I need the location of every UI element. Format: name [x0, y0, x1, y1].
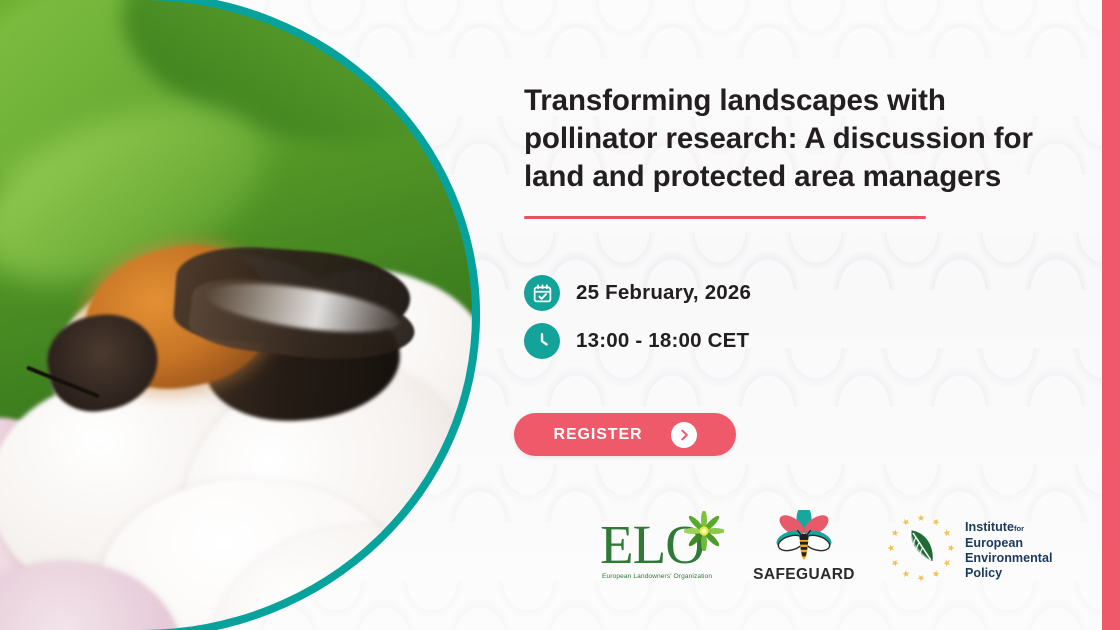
- logo-ieep: Institutefor European Environmental Poli…: [883, 510, 1061, 590]
- partner-logos: ELO: [600, 505, 1070, 595]
- logo-elo: ELO: [600, 511, 725, 589]
- eu-stars-leaf-icon: [883, 510, 959, 591]
- calendar-check-icon: [524, 275, 560, 311]
- starburst-leaf-icon: [684, 511, 724, 556]
- register-button-label: REGISTER: [554, 426, 643, 444]
- ieep-line-4: Policy: [965, 566, 1002, 580]
- chevron-right-circle-icon: [671, 422, 697, 448]
- register-button[interactable]: REGISTER: [514, 413, 736, 456]
- safeguard-wordmark: SAFEGUARD: [753, 566, 855, 584]
- ieep-line-1: Institute: [965, 520, 1014, 534]
- ieep-wordmark: Institutefor European Environmental Poli…: [965, 520, 1052, 580]
- flower-bee-icon: [771, 510, 837, 571]
- ieep-line-3: Environmental: [965, 551, 1052, 565]
- clock-icon: [524, 323, 560, 359]
- bumblebee-blossom-photo: [0, 0, 480, 630]
- photo-clip-mask: [0, 0, 480, 630]
- event-date: 25 February, 2026: [576, 281, 751, 305]
- ieep-line-2: European: [965, 536, 1023, 550]
- title-divider: [524, 216, 926, 219]
- right-accent-stripe: [1102, 0, 1120, 630]
- ieep-line-1-small: for: [1014, 524, 1024, 533]
- logo-safeguard: SAFEGUARD: [753, 510, 855, 590]
- event-details: 25 February, 2026 13:00 - 18:00 CET: [524, 275, 751, 371]
- webinar-promo-banner: Transforming landscapes with pollinator …: [0, 0, 1120, 630]
- page-title: Transforming landscapes with pollinator …: [524, 82, 1084, 196]
- bumblebee: [30, 230, 410, 450]
- event-date-row: 25 February, 2026: [524, 275, 751, 311]
- event-time: 13:00 - 18:00 CET: [576, 329, 749, 353]
- event-time-row: 13:00 - 18:00 CET: [524, 323, 751, 359]
- hero-photo-panel: [0, 0, 500, 630]
- elo-tagline: European Landowners' Organization: [602, 573, 712, 580]
